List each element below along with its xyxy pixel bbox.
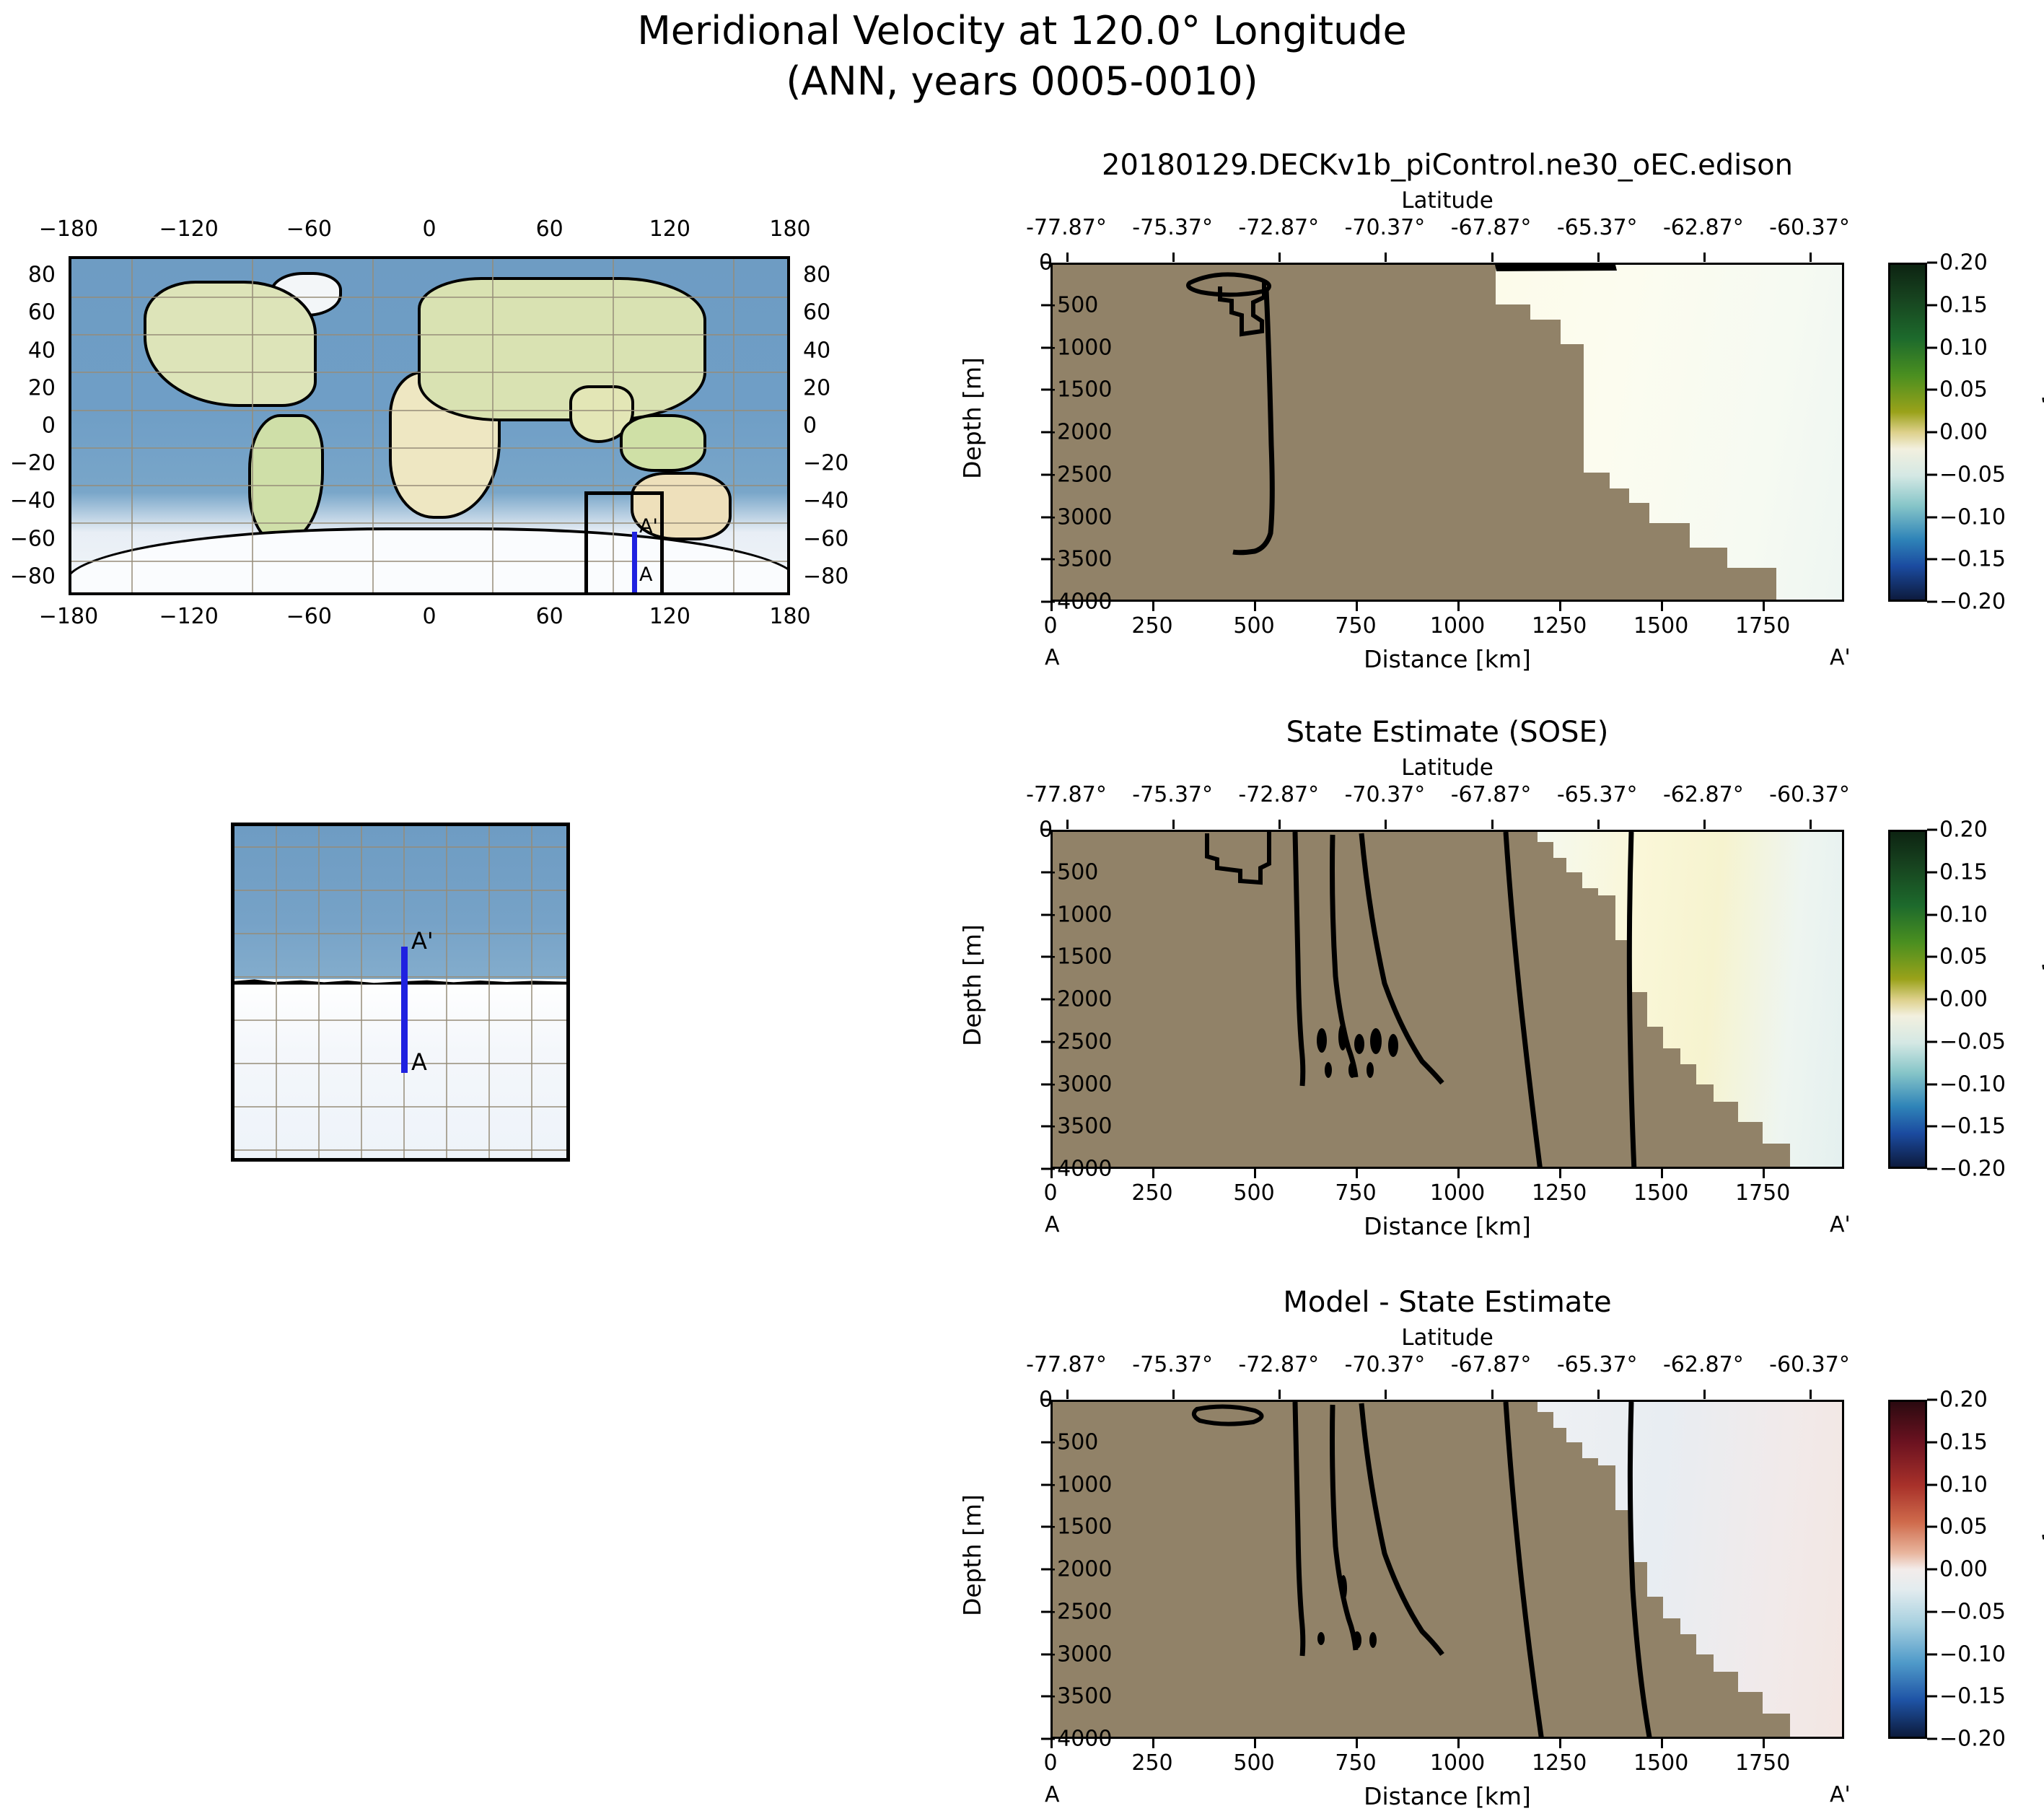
colorbar-unit-label: m s−1	[2039, 1530, 2044, 1599]
worldmap-lon-tick: 120	[649, 604, 690, 629]
depth-tick-mark	[1041, 516, 1050, 518]
distance-tick: 1250	[1532, 613, 1587, 639]
latitude-tick-mark	[1810, 253, 1812, 262]
distance-tick-mark	[1559, 1739, 1561, 1748]
depth-tick-mark	[1041, 346, 1050, 348]
latitude-tick: -65.37°	[1557, 215, 1638, 240]
distance-tick: 250	[1131, 1180, 1172, 1206]
distance-tick-mark	[1661, 1739, 1663, 1748]
latitude-tick: -60.37°	[1769, 782, 1850, 807]
latitude-tick: -62.87°	[1663, 215, 1744, 240]
colorbar-unit-text: m s	[2041, 1556, 2044, 1599]
colorbar-tick-mark	[1927, 1569, 1937, 1571]
worldmap-gridline	[492, 259, 494, 592]
zoommap-gridline	[234, 976, 566, 978]
colorbar-tick: −0.05	[1939, 1029, 2006, 1054]
latitude-tick-mark	[1278, 1390, 1281, 1399]
colorbar-tick-mark	[1927, 601, 1937, 603]
transect-start-label: A	[1045, 1212, 1060, 1237]
colorbar-tick-mark	[1927, 1526, 1937, 1528]
latitude-tick-mark	[1810, 820, 1812, 829]
depth-tick-mark	[1041, 1569, 1050, 1571]
colorbar-tick-mark	[1927, 913, 1937, 916]
distance-tick-mark	[1559, 1169, 1561, 1178]
latitude-tick-mark	[1385, 820, 1387, 829]
worldmap-lon-tick: 0	[422, 216, 436, 242]
continent-southeast-asia	[620, 414, 706, 472]
zoommap-gridline	[234, 1106, 566, 1108]
colorbar-tick-mark	[1927, 1483, 1937, 1486]
latitude-tick: -72.87°	[1238, 215, 1319, 240]
colorbar-tick: 0.05	[1939, 377, 1988, 403]
depth-tick-mark	[1041, 1610, 1050, 1613]
panel-title: State Estimate (SOSE)	[928, 716, 1967, 749]
colorbar-tick-mark	[1927, 1653, 1937, 1655]
worldmap-lon-tick: 120	[649, 216, 690, 242]
worldmap-lat-tick: 0	[803, 413, 817, 439]
latitude-tick: -72.87°	[1238, 782, 1319, 807]
latitude-tick-mark	[1810, 1390, 1812, 1399]
colorbar-tick: 0.15	[1939, 859, 1988, 885]
latitude-tick-mark	[1491, 253, 1493, 262]
colorbar-tick: −0.10	[1939, 1641, 2006, 1667]
depth-tick-mark	[1041, 1483, 1050, 1486]
latitude-tick: -67.87°	[1451, 782, 1532, 807]
worldmap-lon-tick: 60	[536, 216, 563, 242]
distance-tick: 0	[1043, 613, 1057, 639]
worldmap-gridline	[131, 259, 133, 592]
depth-tick-mark	[1041, 1526, 1050, 1528]
panel-title: 20180129.DECKv1b_piControl.ne30_oEC.edis…	[928, 149, 1967, 182]
worldmap-lat-tick: 60	[28, 300, 56, 325]
contour-lines	[1053, 1402, 1844, 1739]
worldmap-lon-tick: 0	[422, 604, 436, 629]
colorbar-tick: −0.20	[1939, 1727, 2006, 1752]
latitude-tick-mark	[1172, 820, 1175, 829]
worldmap-gridline	[71, 485, 787, 486]
depth-axis-label: Depth [m]	[958, 357, 986, 479]
colorbar-tick-mark	[1927, 1610, 1937, 1613]
colorbar-unit-exponent: −1	[2039, 393, 2044, 418]
colorbar-tick-mark	[1927, 1738, 1937, 1740]
distance-tick-mark	[1356, 602, 1358, 611]
colorbar-tick-mark	[1927, 516, 1937, 518]
latitude-tick: -75.37°	[1132, 782, 1213, 807]
worldmap-gridline	[71, 334, 787, 336]
colorbar-tick-mark	[1927, 1696, 1937, 1698]
distance-tick: 1750	[1735, 1180, 1790, 1206]
contour-lines	[1053, 832, 1844, 1169]
latitude-tick-mark	[1597, 820, 1600, 829]
latitude-tick-mark	[1172, 1390, 1175, 1399]
distance-tick: 1500	[1633, 1750, 1688, 1776]
colorbar-tick: −0.15	[1939, 1684, 2006, 1709]
distance-tick-mark	[1356, 1739, 1358, 1748]
colorbar-tick-mark	[1927, 431, 1937, 434]
zoommap-gridline	[531, 826, 532, 1158]
worldmap-lon-tick: −120	[159, 604, 218, 629]
colorbar-tick: −0.15	[1939, 1114, 2006, 1139]
distance-axis-label: Distance [km]	[1050, 1782, 1844, 1810]
worldmap-gridline	[71, 410, 787, 411]
distance-tick: 500	[1233, 613, 1274, 639]
distance-tick-mark	[1559, 602, 1561, 611]
colorbar-tick-mark	[1927, 262, 1937, 264]
distance-tick-mark	[1254, 1169, 1256, 1178]
latitude-tick-mark	[1066, 820, 1069, 829]
zoommap-gridline	[318, 826, 320, 1158]
transect-start-label: A	[411, 1048, 427, 1076]
depth-tick-mark	[1041, 1399, 1050, 1401]
colorbar-tick-mark	[1927, 558, 1937, 561]
distance-tick: 1250	[1532, 1750, 1587, 1776]
colorbar-tick: 0.00	[1939, 1557, 1988, 1582]
depth-tick-mark	[1041, 262, 1050, 264]
colorbar-unit-label: m s−1	[2039, 960, 2044, 1029]
distance-tick-mark	[1254, 1739, 1256, 1748]
worldmap-lat-tick: 0	[42, 413, 56, 439]
worldmap-gridline	[71, 297, 787, 298]
colorbar-tick-mark	[1927, 829, 1937, 831]
distance-tick-mark	[1152, 1169, 1154, 1178]
zoommap-gridline	[234, 1063, 566, 1064]
zoommap-axes[interactable]: A' A	[231, 823, 570, 1162]
colorbar-tick-mark	[1927, 1168, 1937, 1170]
worldmap-lat-tick: −20	[803, 451, 848, 476]
distance-tick: 1000	[1430, 1750, 1485, 1776]
distance-axis-label: Distance [km]	[1050, 1212, 1844, 1240]
worldmap-lat-tick: −60	[10, 526, 56, 551]
worldmap-lat-tick: −20	[10, 451, 56, 476]
latitude-tick-mark	[1278, 820, 1281, 829]
distance-tick: 500	[1233, 1180, 1274, 1206]
colorbar-tick: −0.05	[1939, 462, 2006, 487]
colorbar-tick-mark	[1927, 1441, 1937, 1443]
zoommap-gridline	[234, 890, 566, 891]
latitude-tick-mark	[1066, 253, 1069, 262]
distance-tick: 1500	[1633, 1180, 1688, 1206]
distance-tick-mark	[1050, 1739, 1053, 1748]
distance-tick: 1250	[1532, 1180, 1587, 1206]
worldmap-gridline	[733, 259, 734, 592]
latitude-tick-mark	[1385, 253, 1387, 262]
worldmap-lat-tick: 80	[803, 263, 830, 288]
latitude-tick: -65.37°	[1557, 782, 1638, 807]
zoommap-gridline	[234, 1019, 566, 1021]
worldmap-lon-tick: −120	[159, 216, 218, 242]
distance-tick: 1750	[1735, 613, 1790, 639]
colorbar-tick: −0.20	[1939, 589, 2006, 615]
distance-tick: 1500	[1633, 613, 1688, 639]
colorbar-tick-mark	[1927, 389, 1937, 391]
latitude-axis-label: Latitude	[928, 188, 1967, 214]
worldmap-lat-tick: 60	[803, 300, 830, 325]
worldmap-lat-tick: 40	[803, 338, 830, 363]
worldmap-lat-tick: 40	[28, 338, 56, 363]
panel-title: Model - State Estimate	[928, 1286, 1967, 1319]
colorbar-unit-label: m s−1	[2039, 393, 2044, 462]
colorbar-tick: −0.10	[1939, 1071, 2006, 1097]
distance-tick-mark	[1254, 602, 1256, 611]
distance-tick: 500	[1233, 1750, 1274, 1776]
colorbar-tick-mark	[1927, 956, 1937, 958]
distance-tick: 1750	[1735, 1750, 1790, 1776]
colorbar[interactable]	[1888, 263, 1927, 602]
depth-tick-mark	[1041, 1040, 1050, 1043]
zoom-ice-background	[234, 979, 566, 1158]
worldmap-lon-tick: 180	[769, 604, 810, 629]
worldmap-axes[interactable]: A' A	[69, 256, 790, 595]
latitude-tick: -77.87°	[1026, 215, 1107, 240]
zoommap-gridline	[361, 826, 362, 1158]
figure-title-line2: (ANN, years 0005-0010)	[0, 56, 2044, 107]
difference-panel: Model - State Estimate Latitude -77.87°-…	[1050, 1400, 1844, 1739]
state-estimate-panel: State Estimate (SOSE) Latitude -77.87°-7…	[1050, 830, 1844, 1169]
depth-tick-mark	[1041, 1738, 1050, 1740]
transect-line	[632, 532, 637, 593]
distance-tick: 250	[1131, 1750, 1172, 1776]
colorbar-tick-mark	[1927, 999, 1937, 1001]
worldmap-gridline	[252, 259, 253, 592]
latitude-tick: -72.87°	[1238, 1352, 1319, 1377]
worldmap-lat-tick: −80	[803, 564, 848, 589]
distance-tick-mark	[1457, 1169, 1460, 1178]
distance-tick-mark	[1152, 602, 1154, 611]
colorbar-tick: 0.20	[1939, 250, 1988, 276]
distance-tick-mark	[1050, 1169, 1053, 1178]
colorbar-unit-exponent: −1	[2039, 960, 2044, 986]
depth-axis-label: Depth [m]	[958, 924, 986, 1046]
depth-tick-mark	[1041, 829, 1050, 831]
colorbar-unit-text: m s	[2041, 986, 2044, 1029]
transect-end-label: A'	[639, 515, 658, 538]
distance-tick-mark	[1661, 1169, 1663, 1178]
colorbar-tick-mark	[1927, 1126, 1937, 1128]
distance-tick: 750	[1335, 1180, 1376, 1206]
latitude-tick: -75.37°	[1132, 215, 1213, 240]
zoommap-gridline	[276, 826, 277, 1158]
latitude-axis-label: Latitude	[928, 755, 1967, 781]
latitude-tick-mark	[1597, 253, 1600, 262]
depth-axis-label: Depth [m]	[958, 1494, 986, 1616]
worldmap-lon-tick: −60	[286, 604, 332, 629]
colorbar-tick-mark	[1927, 1040, 1937, 1043]
distance-tick: 1000	[1430, 1180, 1485, 1206]
latitude-tick-mark	[1491, 1390, 1493, 1399]
colorbar-tick: 0.20	[1939, 1387, 1988, 1413]
distance-tick: 0	[1043, 1750, 1057, 1776]
distance-tick: 750	[1335, 613, 1376, 639]
global-locator-map: −180−120−60060120180 −180−120−6006012018…	[69, 256, 790, 595]
worldmap-lon-tick: 60	[536, 604, 563, 629]
transect-start-label: A	[639, 564, 652, 586]
colorbar-tick: −0.20	[1939, 1157, 2006, 1182]
distance-tick-mark	[1661, 602, 1663, 611]
latitude-tick: -62.87°	[1663, 782, 1744, 807]
depth-tick-mark	[1041, 304, 1050, 306]
depth-tick-mark	[1041, 473, 1050, 475]
colorbar-tick: 0.05	[1939, 944, 1988, 970]
depth-tick-mark	[1041, 1168, 1050, 1170]
latitude-tick: -67.87°	[1451, 1352, 1532, 1377]
zoommap-gridline	[488, 826, 490, 1158]
depth-tick-mark	[1041, 913, 1050, 916]
figure-title-line1: Meridional Velocity at 120.0° Longitude	[0, 6, 2044, 56]
worldmap-lat-tick: 20	[803, 375, 830, 400]
difference-section-axes[interactable]	[1050, 1400, 1844, 1739]
latitude-tick: -75.37°	[1132, 1352, 1213, 1377]
latitude-tick-mark	[1491, 820, 1493, 829]
zoommap-gridline	[234, 1149, 566, 1151]
depth-tick-mark	[1041, 999, 1050, 1001]
distance-tick-mark	[1763, 1169, 1765, 1178]
worldmap-lon-tick: −180	[39, 216, 98, 242]
distance-tick-mark	[1763, 602, 1765, 611]
colorbar-tick-mark	[1927, 1399, 1937, 1401]
contour-lines	[1053, 265, 1844, 602]
transect-end-label: A'	[1830, 645, 1851, 670]
distance-tick-mark	[1763, 1739, 1765, 1748]
colorbar-unit-exponent: −1	[2039, 1530, 2044, 1556]
transect-start-label: A	[1045, 645, 1060, 670]
worldmap-lon-tick: 180	[769, 216, 810, 242]
zoommap-gridline	[446, 826, 447, 1158]
latitude-tick: -62.87°	[1663, 1352, 1744, 1377]
colorbar-tick: 0.10	[1939, 335, 1988, 360]
latitude-tick: -70.37°	[1345, 1352, 1426, 1377]
colorbar-tick: 0.10	[1939, 1472, 1988, 1497]
depth-tick-mark	[1041, 601, 1050, 603]
colorbar-tick-mark	[1927, 871, 1937, 873]
latitude-tick-mark	[1278, 253, 1281, 262]
colorbar-tick: 0.00	[1939, 420, 1988, 445]
transect-start-label: A	[1045, 1782, 1060, 1807]
latitude-tick: -67.87°	[1451, 215, 1532, 240]
worldmap-lat-tick: 80	[28, 263, 56, 288]
worldmap-lon-tick: −60	[286, 216, 332, 242]
depth-tick-mark	[1041, 431, 1050, 434]
transect-end-label: A'	[1830, 1782, 1851, 1807]
colorbar-tick-mark	[1927, 1083, 1937, 1085]
colorbar-tick-mark	[1927, 346, 1937, 348]
distance-tick-mark	[1152, 1739, 1154, 1748]
colorbar-tick: 0.20	[1939, 817, 1988, 843]
model-section-axes[interactable]	[1050, 263, 1844, 602]
colorbar-tick: 0.00	[1939, 987, 1988, 1012]
worldmap-lat-tick: −40	[10, 488, 56, 514]
transect-end-label: A'	[411, 927, 434, 955]
depth-tick-mark	[1041, 1696, 1050, 1698]
worldmap-lat-tick: −40	[803, 488, 848, 514]
latitude-tick: -60.37°	[1769, 1352, 1850, 1377]
colorbar-tick: −0.15	[1939, 547, 2006, 572]
worldmap-gridline	[71, 522, 787, 524]
zoom-ocean-background	[234, 826, 566, 986]
worldmap-lat-tick: 20	[28, 375, 56, 400]
worldmap-gridline	[71, 372, 787, 373]
colorbar[interactable]	[1888, 1400, 1927, 1739]
depth-tick-mark	[1041, 956, 1050, 958]
colorbar-tick: 0.15	[1939, 1429, 1988, 1455]
distance-tick: 750	[1335, 1750, 1376, 1776]
latitude-tick-mark	[1597, 1390, 1600, 1399]
latitude-tick-mark	[1703, 820, 1706, 829]
zoommap-gridline	[234, 933, 566, 934]
latitude-tick: -77.87°	[1026, 782, 1107, 807]
colorbar-tick: 0.15	[1939, 292, 1988, 317]
worldmap-gridline	[71, 447, 787, 449]
worldmap-lat-tick: −60	[803, 526, 848, 551]
distance-tick-mark	[1356, 1169, 1358, 1178]
transect-line	[401, 947, 408, 1073]
figure-title: Meridional Velocity at 120.0° Longitude …	[0, 6, 2044, 107]
distance-axis-label: Distance [km]	[1050, 645, 1844, 673]
latitude-tick-mark	[1172, 253, 1175, 262]
worldmap-lon-tick: −180	[39, 604, 98, 629]
depth-tick-mark	[1041, 1083, 1050, 1085]
zoommap-gridline	[234, 846, 566, 848]
distance-tick-mark	[1050, 602, 1053, 611]
regional-zoom-map: A' A	[231, 823, 570, 1162]
colorbar-tick-mark	[1927, 473, 1937, 475]
transect-end-label: A'	[1830, 1212, 1851, 1237]
worldmap-gridline	[71, 561, 787, 562]
latitude-axis-label: Latitude	[928, 1325, 1967, 1351]
distance-tick: 250	[1131, 613, 1172, 639]
worldmap-lat-tick: −80	[10, 564, 56, 589]
model-panel: 20180129.DECKv1b_piControl.ne30_oEC.edis…	[1050, 263, 1844, 602]
worldmap-gridline	[372, 259, 374, 592]
continent-europe-asia	[418, 277, 706, 421]
distance-tick-mark	[1457, 602, 1460, 611]
distance-tick-mark	[1457, 1739, 1460, 1748]
colorbar-unit-text: m s	[2041, 418, 2044, 462]
depth-tick-mark	[1041, 1126, 1050, 1128]
colorbar-tick: 0.10	[1939, 902, 1988, 927]
latitude-tick-mark	[1385, 1390, 1387, 1399]
latitude-tick: -70.37°	[1345, 782, 1426, 807]
colorbar-tick: −0.05	[1939, 1599, 2006, 1624]
latitude-tick-mark	[1066, 1390, 1069, 1399]
depth-tick-mark	[1041, 871, 1050, 873]
colorbar-tick-mark	[1927, 304, 1937, 306]
depth-tick-mark	[1041, 1653, 1050, 1655]
sose-section-axes[interactable]	[1050, 830, 1844, 1169]
colorbar-tick: −0.10	[1939, 504, 2006, 530]
depth-tick-mark	[1041, 558, 1050, 561]
distance-tick: 0	[1043, 1180, 1057, 1206]
latitude-tick: -70.37°	[1345, 215, 1426, 240]
colorbar-tick: 0.05	[1939, 1514, 1988, 1540]
latitude-tick: -77.87°	[1026, 1352, 1107, 1377]
latitude-tick-mark	[1703, 1390, 1706, 1399]
colorbar[interactable]	[1888, 830, 1927, 1169]
latitude-tick: -60.37°	[1769, 215, 1850, 240]
depth-tick-mark	[1041, 389, 1050, 391]
distance-tick: 1000	[1430, 613, 1485, 639]
depth-tick-mark	[1041, 1441, 1050, 1443]
latitude-tick-mark	[1703, 253, 1706, 262]
latitude-tick: -65.37°	[1557, 1352, 1638, 1377]
